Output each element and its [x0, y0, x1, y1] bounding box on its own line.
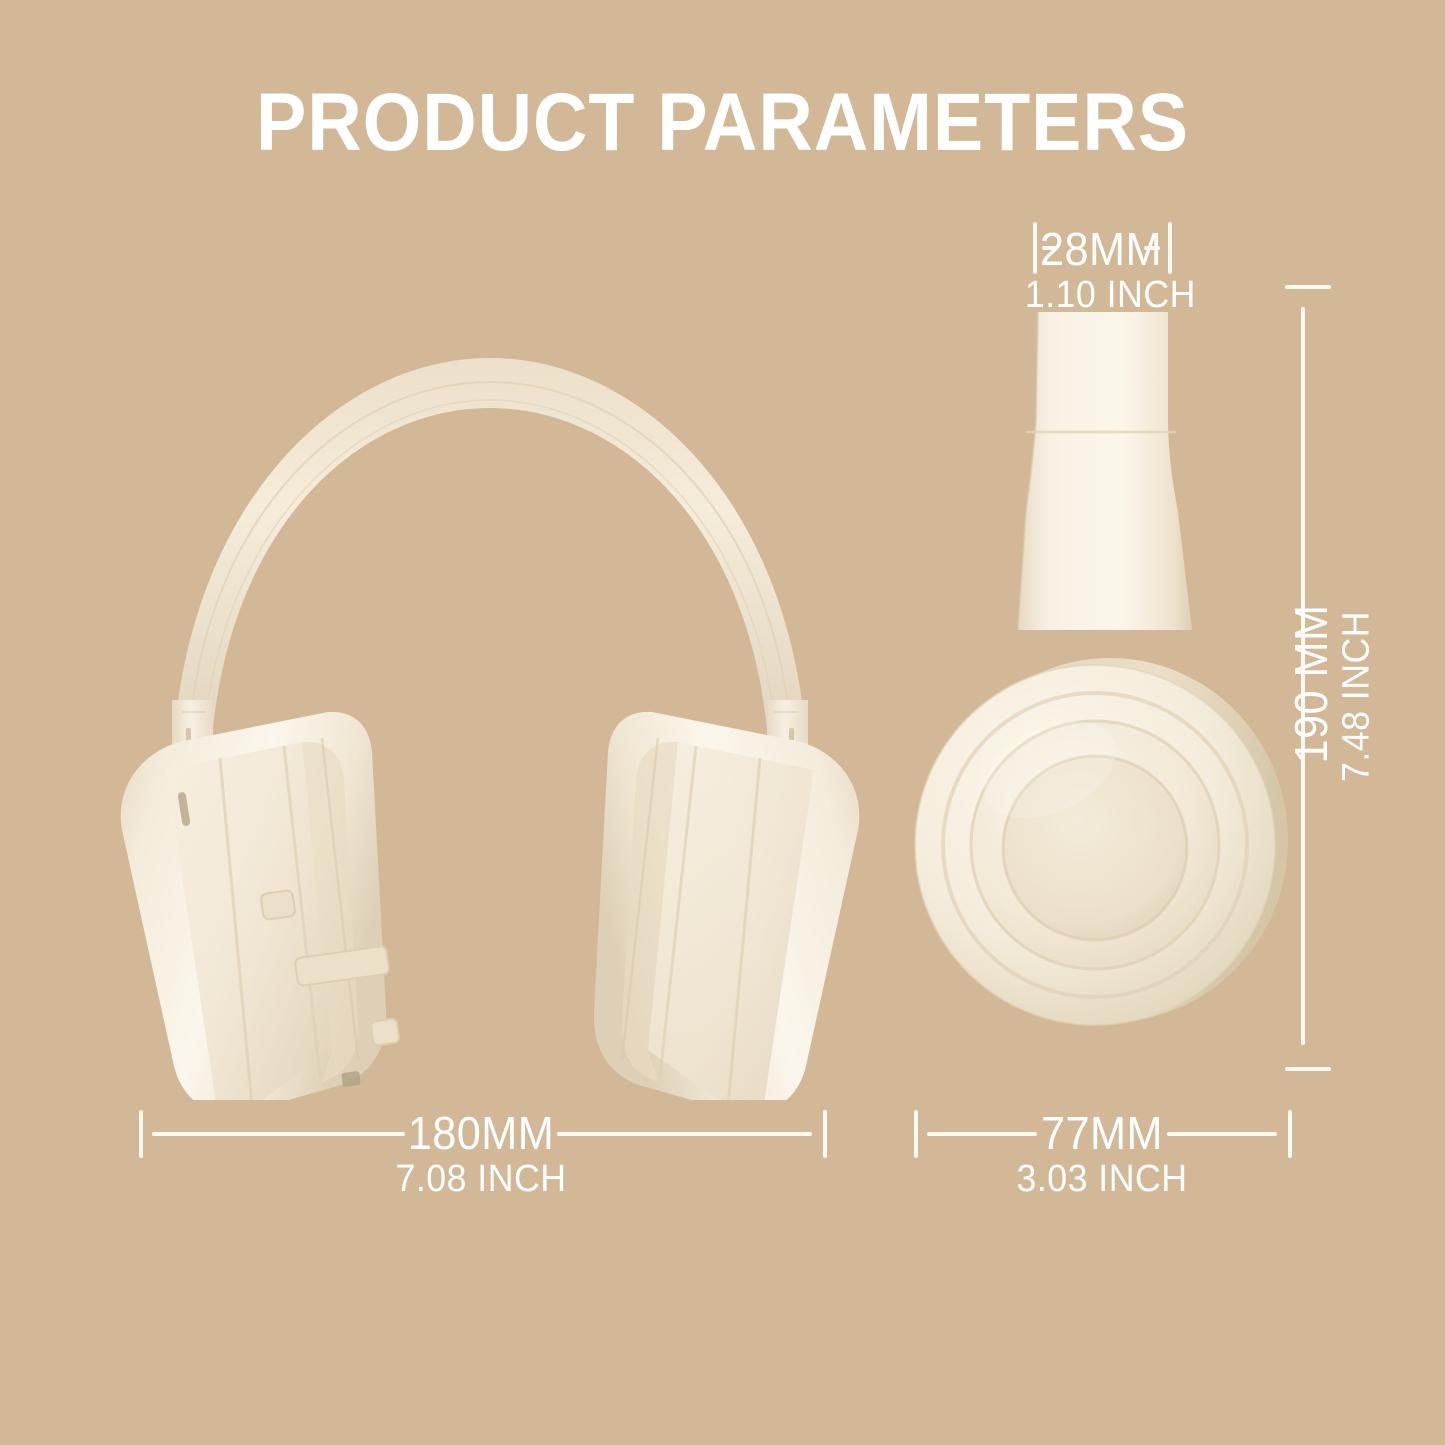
line-right: [1167, 1132, 1277, 1136]
dimension-inch-label: 1.10 INCH: [1025, 274, 1177, 317]
side-headband-arm: [1018, 312, 1192, 630]
dimension-mm-label: 180MM: [403, 1106, 559, 1160]
tick-right: [1288, 1110, 1292, 1158]
tick-left: [914, 1110, 918, 1158]
left-ear-cup: [121, 712, 400, 1100]
dimension-inch-label: 7.48 INCH: [1336, 339, 1379, 1053]
dimension-overall-height: 190 MM 7.48 INCH: [1258, 285, 1388, 1085]
dimension-mm-label: 77MM: [1032, 1106, 1173, 1160]
dimension-headband-thickness: 28MM 1.10 INCH: [1020, 222, 1240, 318]
ear-cup-outer: [915, 665, 1275, 1025]
cap-bottom: [1285, 1067, 1331, 1071]
headphones-front-view: [110, 320, 870, 1100]
right-ear-cup: [594, 712, 859, 1100]
usb-c-port: [341, 1071, 361, 1087]
dimension-earcup-depth: 77MM 3.03 INCH: [905, 1108, 1305, 1208]
tick-right: [823, 1110, 827, 1158]
play-button: [260, 890, 295, 920]
page-title: PRODUCT PARAMETERS: [58, 82, 1387, 164]
dimension-inch-label: 7.08 INCH: [375, 1158, 587, 1201]
headphones-side-view: [900, 300, 1300, 1090]
mode-button: [370, 1018, 399, 1045]
tick-left: [139, 1110, 143, 1158]
product-parameters-infographic: PRODUCT PARAMETERS: [0, 0, 1445, 1445]
line-left: [927, 1132, 1037, 1136]
line-right: [557, 1132, 812, 1136]
cap-top: [1285, 285, 1331, 289]
dimension-mm-label: 28MM: [1025, 222, 1177, 276]
line-left: [152, 1132, 405, 1136]
dimension-overall-width: 180MM 7.08 INCH: [130, 1108, 840, 1208]
dimension-mm-label: 190 MM: [1284, 327, 1338, 1041]
dimension-inch-label: 3.03 INCH: [1008, 1158, 1196, 1201]
